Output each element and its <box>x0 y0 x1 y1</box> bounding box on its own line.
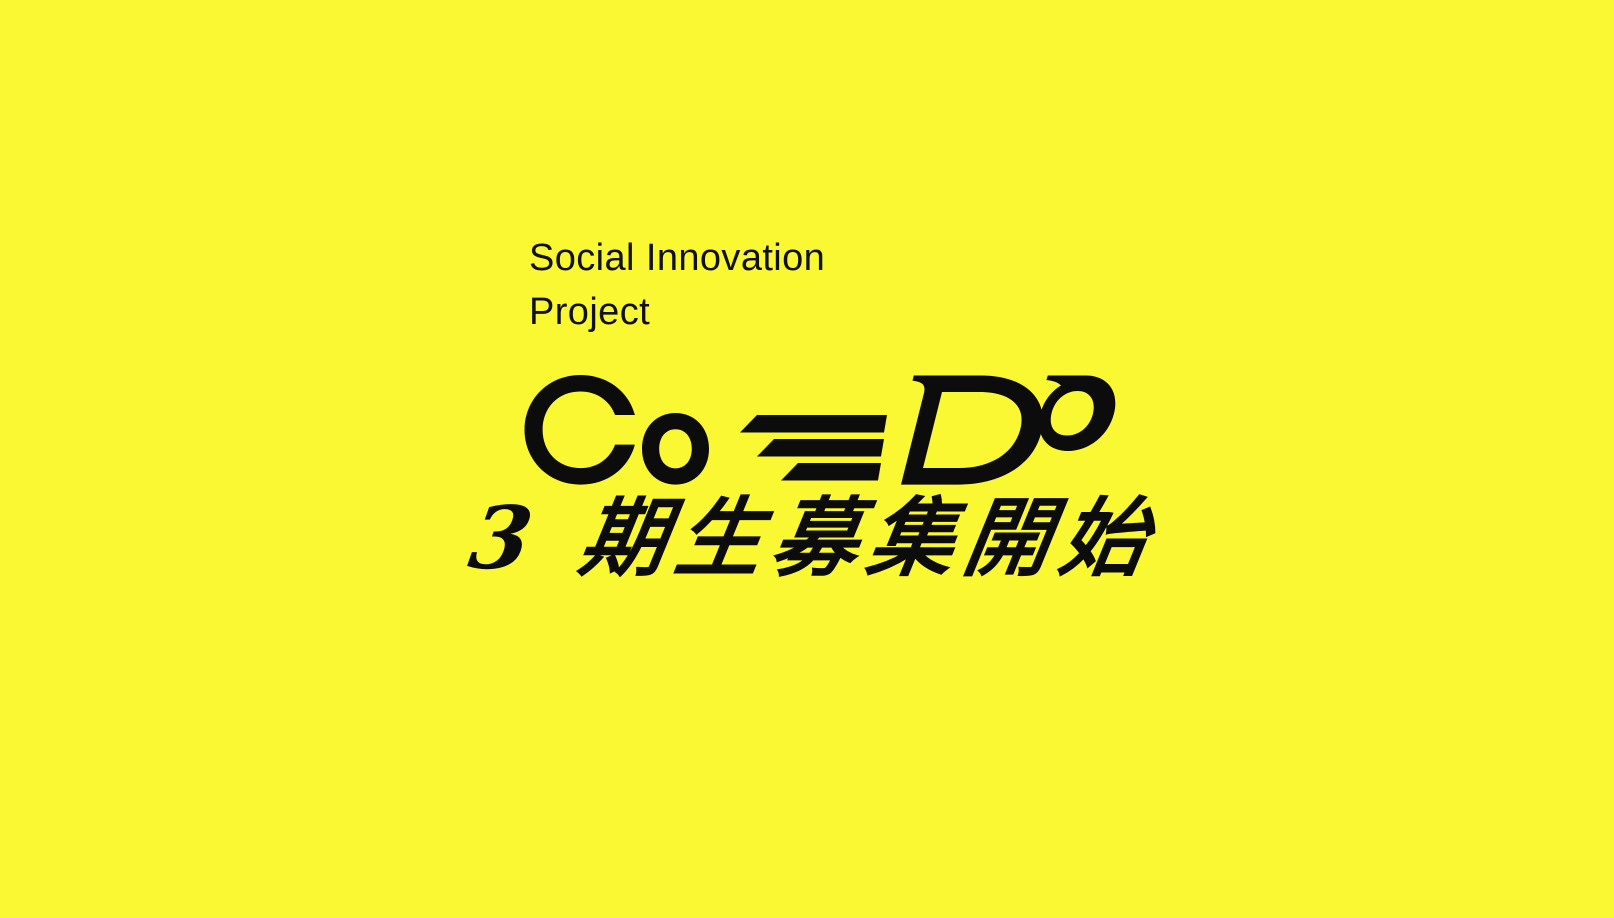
tagline-line-2: Project <box>529 285 1169 339</box>
logo-letter-o-small <box>642 413 709 485</box>
co-d-logo-graphic <box>523 371 1103 487</box>
logo-letter-d <box>901 376 1043 485</box>
headline-text: 3 期生募集開始 <box>449 487 1165 591</box>
logo-speed-line-2 <box>757 439 884 457</box>
logo-speed-line-1 <box>740 415 887 433</box>
tagline-block: Social Innovation Project <box>529 231 1169 339</box>
logo-speed-line-3 <box>781 463 881 481</box>
poster-canvas: Social Innovation Project 3 期生募集開始 <box>0 0 1614 918</box>
co-d-logo <box>523 371 1103 487</box>
logo-letter-c <box>525 375 635 485</box>
headline-block: 3 期生募集開始 <box>0 487 1614 591</box>
logo-letter-o-superscript <box>1039 376 1115 452</box>
tagline-line-1: Social Innovation <box>529 231 1169 285</box>
